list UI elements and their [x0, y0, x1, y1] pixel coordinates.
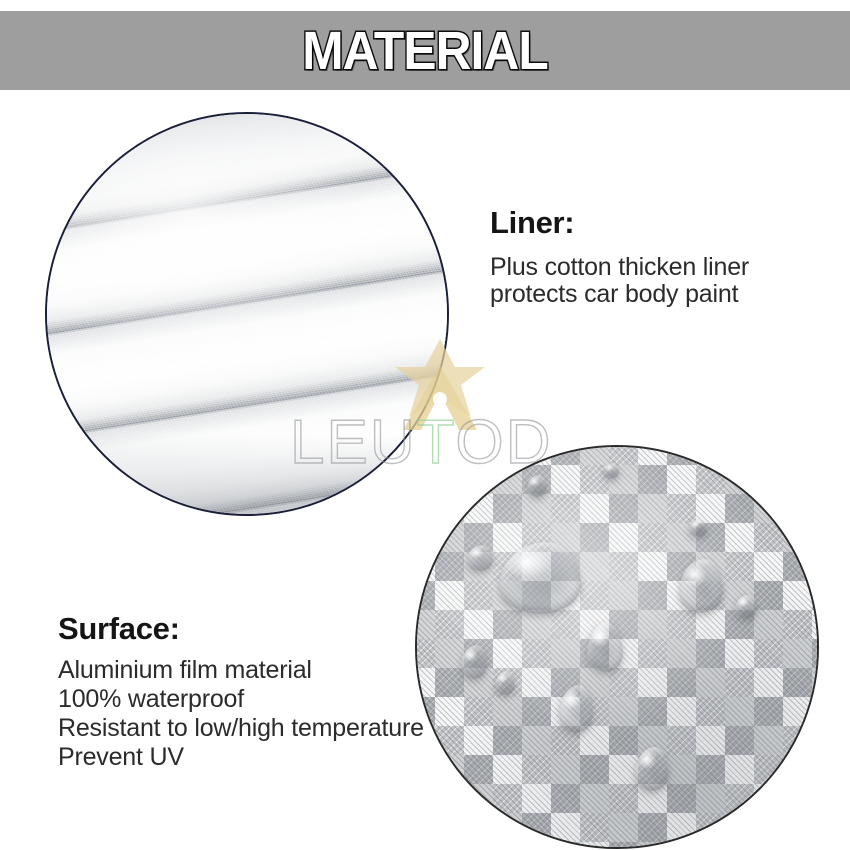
surface-photo-circle [415, 445, 819, 849]
water-droplet [461, 645, 487, 679]
surface-description-line: 100% waterproof [58, 685, 458, 714]
liner-description-line: protects car body paint [490, 281, 830, 308]
header-banner: MATERIAL [0, 11, 850, 90]
liner-photo-circle [45, 112, 449, 516]
water-droplet [689, 519, 707, 537]
surface-description: Aluminium film material 100% waterproof … [58, 656, 458, 772]
surface-description-line: Aluminium film material [58, 656, 458, 685]
material-infographic: MATERIAL LEUTOD Liner: [0, 0, 850, 850]
water-droplet [467, 545, 493, 571]
surface-description-line: Prevent UV [58, 743, 458, 772]
liner-description: Plus cotton thicken liner protects car b… [490, 254, 830, 308]
water-droplet [527, 475, 547, 497]
surface-description-line: Resistant to low/high temperature [58, 714, 458, 743]
liner-description-line: Plus cotton thicken liner [490, 254, 830, 281]
water-droplet [735, 595, 757, 619]
water-droplet [495, 671, 515, 695]
surface-callout: Surface: Aluminium film material 100% wa… [58, 610, 458, 772]
liner-heading: Liner: [490, 204, 830, 242]
liner-callout: Liner: Plus cotton thicken liner protect… [490, 204, 830, 308]
surface-heading: Surface: [58, 610, 458, 648]
water-droplet [603, 463, 619, 479]
page-title: MATERIAL [34, 11, 816, 90]
water-droplet [635, 747, 669, 791]
liner-photo-sheen [47, 114, 447, 514]
